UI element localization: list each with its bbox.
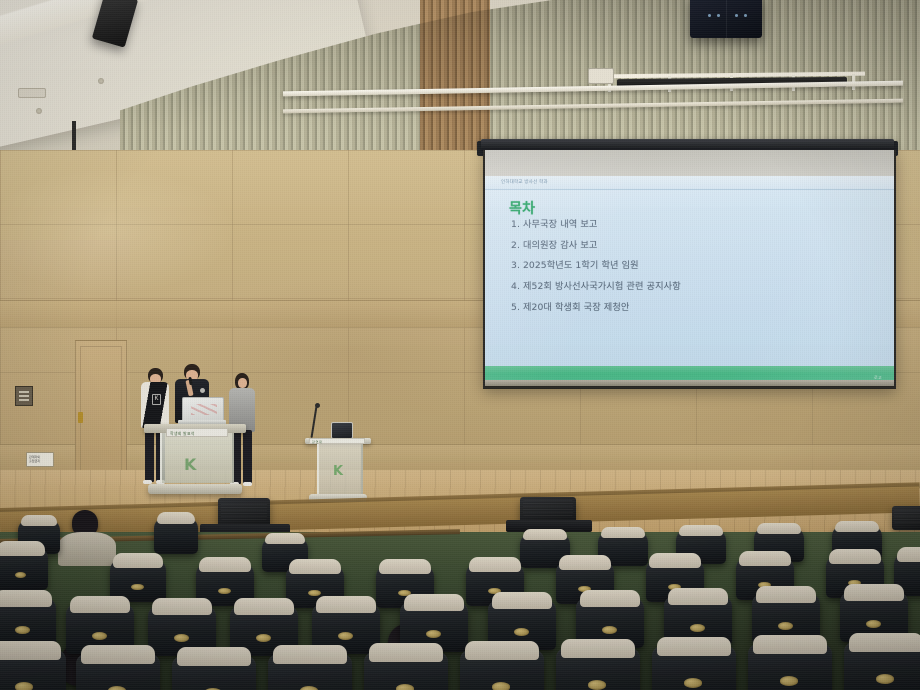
led-indicator-icon — [717, 14, 720, 17]
projector-panel — [690, 0, 762, 38]
seat-headrest — [849, 633, 920, 653]
seat-headrest — [835, 521, 879, 533]
seat-headrest — [152, 598, 212, 615]
seat-number-plate — [602, 626, 617, 634]
seat[interactable] — [844, 642, 920, 690]
slide-toc-list: 1.사무국장 내역 보고 2.대의원장 감사 보고 3.2025학년도 1학기 … — [511, 220, 871, 324]
podium-logo-icon: K — [184, 455, 196, 474]
seat[interactable] — [76, 654, 160, 690]
seat-headrest — [679, 525, 723, 537]
seat-headrest — [465, 641, 539, 661]
seat-number-plate — [15, 682, 33, 690]
seat-headrest — [897, 547, 920, 561]
slide-header-rule — [485, 189, 894, 190]
presenter-laptop[interactable] — [178, 397, 224, 427]
seat-headrest — [234, 598, 294, 615]
slide-title: 목차 — [509, 198, 535, 218]
seat-headrest — [0, 590, 52, 607]
seat[interactable] — [556, 648, 640, 690]
seat-number-plate — [426, 630, 441, 638]
seat[interactable] — [0, 548, 48, 590]
seat-number-plate — [108, 686, 126, 690]
seat-number-plate — [588, 680, 606, 689]
seat-headrest — [0, 541, 45, 555]
toc-number: 1. — [511, 219, 520, 230]
podium-body: K — [160, 433, 234, 483]
seat-headrest — [739, 551, 790, 565]
seat-headrest — [523, 529, 567, 541]
microphone-icon — [315, 403, 320, 408]
seat-number-plate — [690, 624, 705, 632]
jacket-letter-k: K — [152, 394, 161, 405]
seat-number-plate — [876, 674, 894, 683]
truss-junction-box — [588, 68, 614, 84]
toc-text: 제20대 학생회 국장 제청안 — [523, 302, 629, 313]
seat-headrest — [561, 639, 635, 659]
wall-trim-band — [0, 444, 920, 472]
presentation-slide: 인하대학교 방사선 학과 목차 1.사무국장 내역 보고 2.대의원장 감사 보… — [485, 176, 894, 386]
seat-headrest — [21, 515, 58, 527]
seat-headrest — [113, 553, 162, 567]
seat-headrest — [649, 553, 700, 567]
seat-headrest — [757, 523, 801, 535]
lectern: 강 연 대 K — [305, 424, 371, 502]
presenter-shoe — [243, 482, 252, 486]
seat-number-plate — [308, 590, 321, 597]
seat-headrest — [177, 647, 251, 667]
wall-control-panel[interactable] — [15, 386, 33, 406]
led-indicator-icon — [744, 14, 747, 17]
toc-number: 4. — [511, 281, 520, 292]
seat-headrest — [844, 584, 904, 601]
seat-headrest — [492, 592, 552, 609]
seat-number-plate — [131, 584, 143, 591]
seat-headrest — [580, 590, 640, 607]
seat-number-plate — [514, 628, 529, 636]
seat-number-plate — [492, 682, 510, 690]
seat-number-plate — [256, 634, 271, 642]
seat[interactable] — [364, 652, 448, 690]
toc-text: 2025학년도 1학기 학년 임원 — [523, 260, 639, 271]
presenter-face — [238, 378, 247, 388]
stage-monitor-speaker — [892, 506, 920, 530]
seat-number-plate — [300, 686, 318, 690]
seat[interactable] — [154, 518, 198, 554]
seat-headrest — [157, 512, 196, 524]
door-handle-icon[interactable] — [78, 412, 83, 423]
seat-number-plate — [218, 588, 231, 595]
toc-text: 제52회 방사선사국가시험 관련 공지사항 — [523, 281, 681, 292]
projection-screen: 인하대학교 방사선 학과 목차 1.사무국장 내역 보고 2.대의원장 감사 보… — [483, 150, 896, 389]
laptop-sticker — [191, 404, 217, 415]
seat-headrest — [657, 637, 731, 657]
ceiling-sprinkler-icon — [36, 108, 42, 114]
seat-headrest — [404, 594, 464, 611]
seat-number-plate — [15, 572, 27, 579]
screen-bottom-strip — [485, 380, 894, 386]
podium-base — [148, 484, 242, 494]
lectern-logo-icon: K — [333, 464, 343, 479]
list-item: 2.대의원장 감사 보고 — [511, 241, 871, 250]
list-item: 1.사무국장 내역 보고 — [511, 220, 871, 229]
seat-headrest — [469, 557, 520, 571]
seat-headrest — [753, 635, 827, 655]
slide-header-text: 인하대학교 방사선 학과 — [501, 179, 548, 185]
lectern-monitor[interactable] — [331, 422, 353, 439]
ceiling-sprinkler-icon — [98, 78, 104, 84]
toc-text: 대의원장 감사 보고 — [523, 240, 597, 251]
seat[interactable] — [172, 656, 256, 690]
led-indicator-icon — [708, 14, 711, 17]
podium-name-plate: 학생회 발표석 — [166, 428, 228, 437]
seat-headrest — [379, 559, 430, 573]
toc-number: 3. — [511, 260, 520, 271]
lectern-column: K — [317, 444, 363, 494]
seat-number-plate — [778, 622, 793, 630]
screen-blank-margin — [485, 150, 894, 176]
seat-headrest — [369, 643, 443, 663]
list-item: 3.2025학년도 1학기 학년 임원 — [511, 261, 871, 270]
presenter-leg — [243, 430, 252, 484]
seat-headrest — [81, 645, 155, 665]
led-indicator-icon — [735, 14, 738, 17]
seat-number-plate — [866, 620, 881, 628]
seat[interactable] — [652, 646, 736, 690]
seat[interactable] — [460, 650, 544, 690]
seat-headrest — [273, 645, 347, 665]
audience-person-shoulders — [58, 532, 116, 566]
toc-text: 사무국장 내역 보고 — [523, 219, 597, 230]
seat[interactable] — [748, 644, 832, 690]
seat-headrest — [601, 527, 645, 539]
seat-headrest — [668, 588, 728, 605]
auditorium-photo: 관계자외 출입금지 인하대학교 방사선 학과 목차 1.사무국장 내역 보고 2… — [0, 0, 920, 690]
seat-number-plate — [338, 632, 353, 640]
seat-number-plate — [684, 678, 702, 687]
seat-headrest — [70, 596, 130, 613]
list-item: 4.제52회 방사선사국가시험 관련 공지사항 — [511, 282, 871, 291]
jacket-badge-icon — [200, 388, 205, 393]
seat-headrest — [559, 555, 610, 569]
seat-number-plate — [92, 632, 107, 640]
seat-headrest — [316, 596, 376, 613]
seat-number-plate — [174, 634, 189, 642]
presenter-jacket — [141, 382, 169, 428]
seat-headrest — [199, 557, 250, 571]
toc-number: 5. — [511, 302, 520, 313]
toc-number: 2. — [511, 240, 520, 251]
seat[interactable] — [0, 650, 66, 690]
seat[interactable] — [268, 654, 352, 690]
seat-headrest — [829, 549, 880, 563]
slide-header-bar: 인하대학교 방사선 학과 — [485, 176, 894, 190]
seat-headrest — [265, 533, 305, 545]
seat-number-plate — [780, 676, 798, 685]
seat-headrest — [756, 586, 816, 603]
seat-headrest — [0, 641, 61, 661]
seat-number-plate — [396, 684, 414, 690]
list-item: 5.제20대 학생회 국장 제청안 — [511, 303, 871, 312]
seat-headrest — [289, 559, 340, 573]
seat-number-plate — [15, 626, 30, 634]
ceiling-vent — [18, 88, 46, 98]
